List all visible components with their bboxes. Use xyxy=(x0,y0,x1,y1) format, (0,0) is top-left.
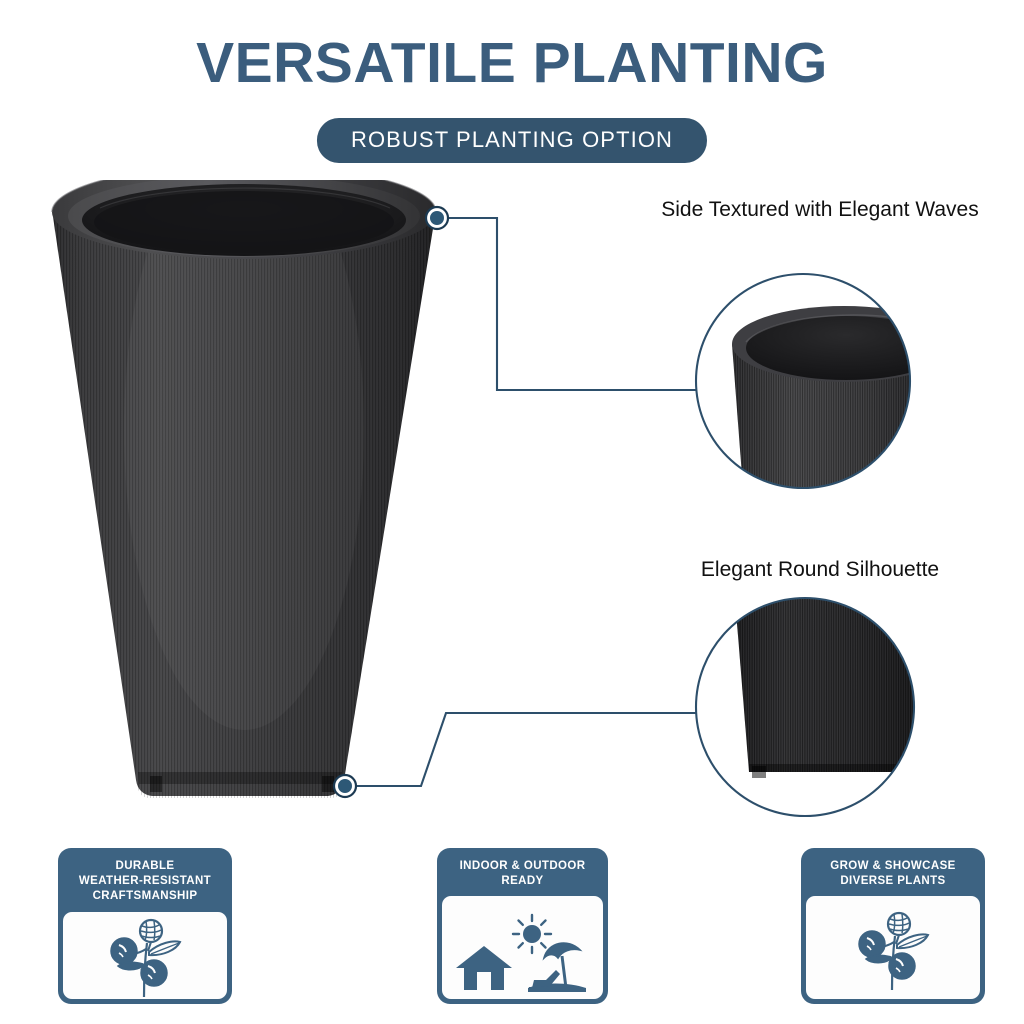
planter-texture xyxy=(30,180,460,820)
house-sun-umbrella-icon xyxy=(450,902,596,994)
subtitle-badge: ROBUST PLANTING OPTION xyxy=(317,118,707,163)
feature-badge-icon-area xyxy=(63,912,227,999)
sun-icon xyxy=(513,915,551,953)
house-icon xyxy=(456,946,512,990)
planter-foot-left xyxy=(150,776,162,792)
feature-badge-durable[interactable]: DURABLE WEATHER-RESISTANT CRAFTSMANSHIP xyxy=(58,848,232,1004)
planter-foot-right xyxy=(322,776,334,792)
feature-badge-title: DURABLE WEATHER-RESISTANT CRAFTSMANSHIP xyxy=(63,853,227,912)
page-title: VERSATILE PLANTING xyxy=(0,34,1024,94)
beach-umbrella-icon xyxy=(528,943,586,992)
feature-badge-icon-area xyxy=(442,896,603,999)
product-image-planter xyxy=(30,180,460,820)
planter-inner-shadow xyxy=(94,191,394,253)
infographic-stage: VERSATILE PLANTING ROBUST PLANTING OPTIO… xyxy=(0,0,1024,1024)
planter-base-groove xyxy=(138,772,342,784)
feature-badge-indoor-outdoor[interactable]: INDOOR & OUTDOOR READY xyxy=(437,848,608,1004)
feature-badge-grow-showcase[interactable]: GROW & SHOWCASE DIVERSE PLANTS xyxy=(801,848,985,1004)
detail-circle-rim-texture xyxy=(694,272,912,490)
feature-badge-title: GROW & SHOWCASE DIVERSE PLANTS xyxy=(806,853,980,896)
callout-label-side-texture: Side Textured with Elegant Waves xyxy=(640,196,1000,225)
callout-label-round-silhouette: Elegant Round Silhouette xyxy=(640,556,1000,585)
planter-illustration xyxy=(30,180,460,820)
connector-line-top xyxy=(444,218,697,390)
feature-badge-title: INDOOR & OUTDOOR READY xyxy=(442,853,603,896)
feature-badge-icon-area xyxy=(806,896,980,999)
detail-circle-base-silhouette xyxy=(694,596,916,818)
berry-branch-icon xyxy=(99,912,191,999)
berry-branch-icon xyxy=(847,902,939,994)
